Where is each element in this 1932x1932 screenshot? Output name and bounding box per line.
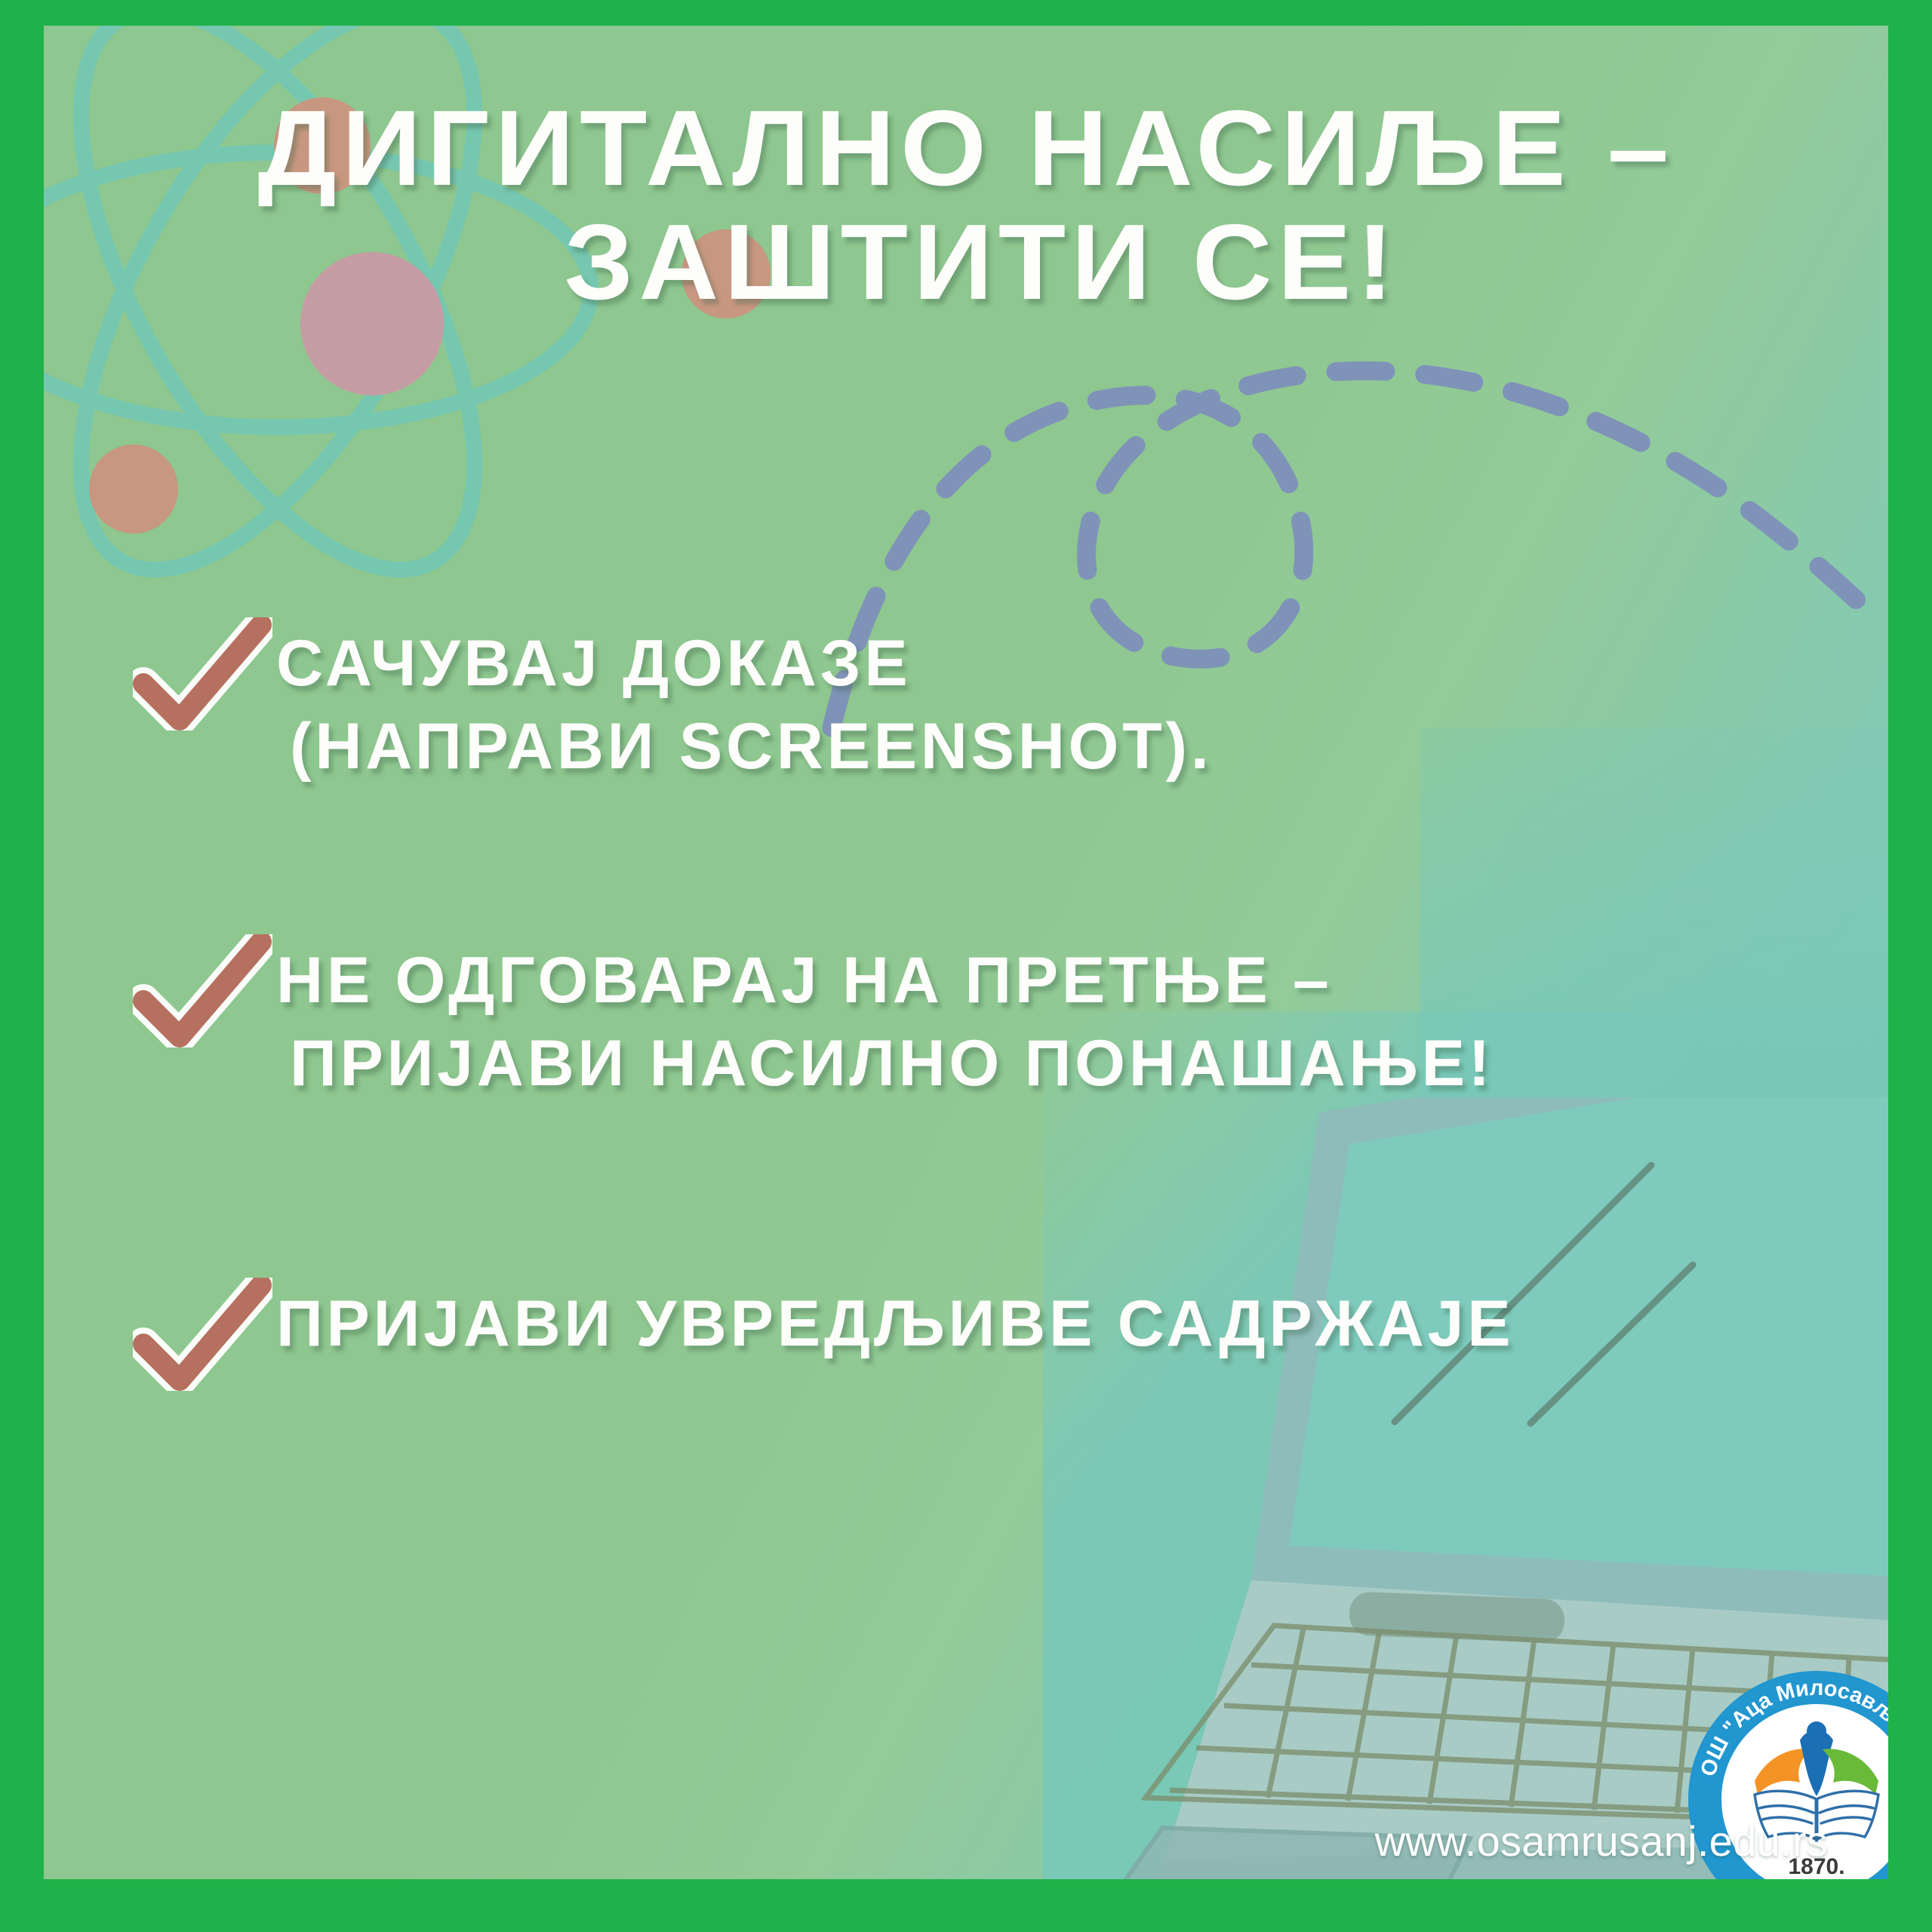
checkmark-icon [133,934,272,1048]
poster-root: ДИГИТАЛНО НАСИЉЕ – ЗАШТИТИ СЕ! САЧУВАЈ Д… [0,0,1932,1932]
list-item: ПРИЈАВИ УВРЕДЉИВЕ САДРЖАЈЕ [133,1282,1869,1365]
bullet-2-line-1: НЕ ОДГОВАРАЈ НА ПРЕТЊЕ – [276,939,1869,1022]
bullet-1-line-2: (НАПРАВИ SCREENSHOT). [276,705,1869,788]
list-item-text: ПРИЈАВИ УВРЕДЉИВЕ САДРЖАЈЕ [133,1282,1869,1365]
advice-list: САЧУВАЈ ДОКАЗЕ (НАПРАВИ SCREENSHOT). НЕ … [133,622,1869,1365]
checkmark-icon [133,1278,272,1391]
poster-canvas: ДИГИТАЛНО НАСИЉЕ – ЗАШТИТИ СЕ! САЧУВАЈ Д… [44,26,1888,1879]
list-item: НЕ ОДГОВАРАЈ НА ПРЕТЊЕ – ПРИЈАВИ НАСИЛНО… [133,939,1869,1105]
bullet-1-line-1: САЧУВАЈ ДОКАЗЕ [276,622,1869,705]
list-item: САЧУВАЈ ДОКАЗЕ (НАПРАВИ SCREENSHOT). [133,622,1869,788]
title-line-1: ДИГИТАЛНО НАСИЉЕ – [44,92,1888,206]
website-url[interactable]: www.osamrusanj.edu.rs [1375,1817,1828,1866]
checkmark-icon [133,617,272,731]
page-title: ДИГИТАЛНО НАСИЉЕ – ЗАШТИТИ СЕ! [44,92,1888,319]
bullet-3-line-1: ПРИЈАВИ УВРЕДЉИВЕ САДРЖАЈЕ [276,1282,1869,1365]
bullet-2-line-2: ПРИЈАВИ НАСИЛНО ПОНАШАЊЕ! [276,1022,1869,1105]
decor-dot-terracotta-3 [89,445,178,534]
title-line-2: ЗАШТИТИ СЕ! [44,206,1888,320]
list-item-text: САЧУВАЈ ДОКАЗЕ (НАПРАВИ SCREENSHOT). [133,622,1869,788]
list-item-text: НЕ ОДГОВАРАЈ НА ПРЕТЊЕ – ПРИЈАВИ НАСИЛНО… [133,939,1869,1105]
